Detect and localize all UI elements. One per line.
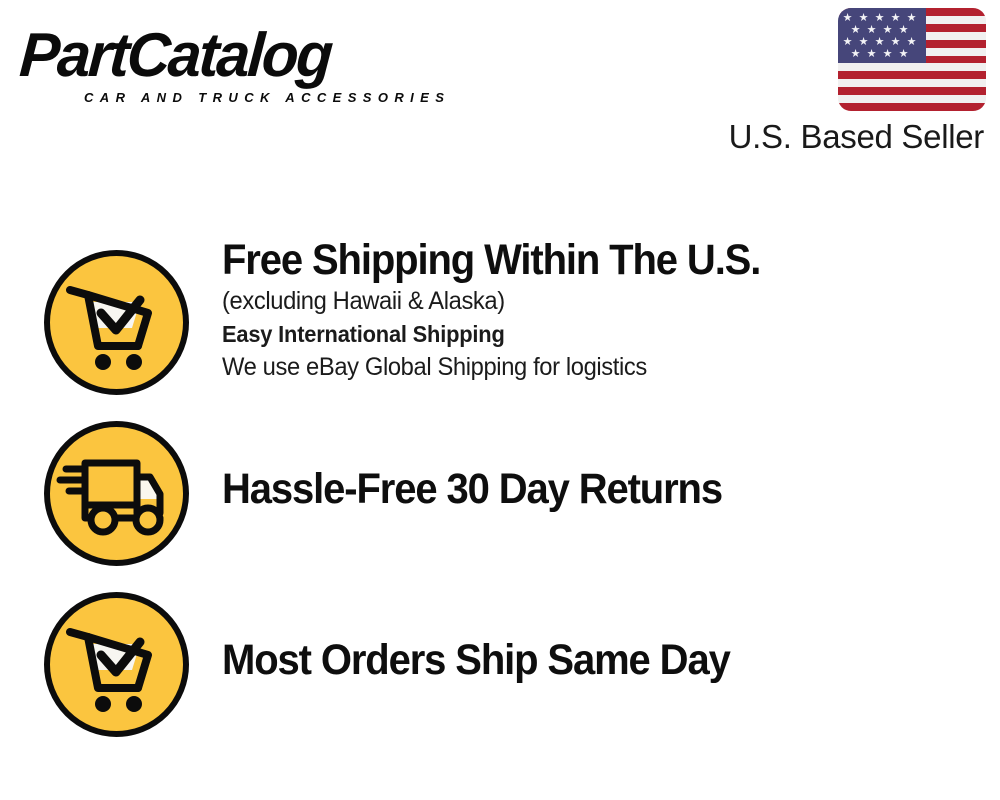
- brand-tagline: CAR AND TRUCK ACCESSORIES: [84, 90, 450, 105]
- feature-text-block: Hassle-Free 30 Day Returns: [222, 465, 982, 513]
- feature-headline: Free Shipping Within The U.S.: [222, 236, 929, 284]
- us-flag-icon: ★ ★ ★ ★ ★ ★ ★ ★ ★ ★ ★ ★ ★ ★ ★ ★ ★ ★: [838, 8, 986, 111]
- flag-stripe: [838, 63, 986, 71]
- delivery-truck-icon: [44, 421, 189, 566]
- feature-headline: Hassle-Free 30 Day Returns: [222, 465, 929, 513]
- seller-badge: ★ ★ ★ ★ ★ ★ ★ ★ ★ ★ ★ ★ ★ ★ ★ ★ ★ ★ U.S.…: [716, 8, 986, 156]
- feature-subline-exclusion: (excluding Hawaii & Alaska): [222, 284, 944, 318]
- flag-stripe: [838, 95, 986, 103]
- shopping-cart-check-icon: [44, 592, 189, 737]
- feature-text-block: Free Shipping Within The U.S. (excluding…: [222, 236, 982, 384]
- feature-subline-international: Easy International Shipping: [222, 318, 944, 350]
- flag-stripe: [838, 79, 986, 87]
- feature-text-block: Most Orders Ship Same Day: [222, 636, 982, 684]
- brand-logo: PartCatalog CAR AND TRUCK ACCESSORIES: [22, 24, 492, 114]
- flag-canton: ★ ★ ★ ★ ★ ★ ★ ★ ★ ★ ★ ★ ★ ★ ★ ★ ★ ★: [838, 8, 926, 63]
- brand-wordmark: PartCatalog: [18, 24, 478, 88]
- seller-badge-label: U.S. Based Seller: [716, 118, 984, 156]
- cart-check-glyph: [44, 250, 189, 395]
- truck-glyph: [44, 421, 189, 566]
- feature-subline-logistics: We use eBay Global Shipping for logistic…: [222, 350, 944, 384]
- feature-headline: Most Orders Ship Same Day: [222, 636, 929, 684]
- flag-stripe: [838, 87, 986, 95]
- shopping-cart-check-icon: [44, 250, 189, 395]
- cart-check-glyph: [44, 592, 189, 737]
- flag-stripe: [838, 71, 986, 79]
- flag-stripe: [838, 103, 986, 111]
